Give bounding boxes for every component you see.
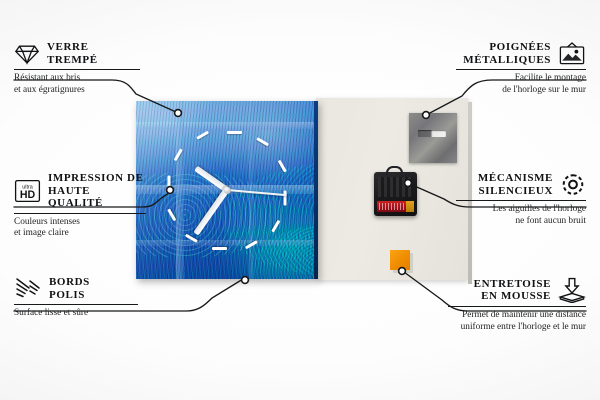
callout-header: POIGNÉES MÉTALLIQUES — [456, 41, 586, 66]
callout-title: POIGNÉES MÉTALLIQUES — [456, 41, 551, 66]
callout-header: ENTRETOISE EN MOUSSE — [448, 277, 586, 303]
callout-bords-polis: BORDS POLIS Surface lisse et sûre — [14, 276, 138, 320]
callout-rule — [456, 200, 586, 201]
infographic-canvas: VERRE TREMPÉ Résistant aux bris et aux é… — [0, 0, 600, 400]
callout-subtitle: Résistant aux bris et aux égratignures — [14, 73, 140, 96]
callout-header: ultra HD IMPRESSION DE HAUTE QUALITÉ — [14, 172, 146, 210]
callout-title: VERRE TREMPÉ — [47, 41, 98, 66]
ultra-hd-icon: ultra HD — [14, 179, 41, 203]
callout-poignees-metalliques: POIGNÉES MÉTALLIQUES Facilite le montage… — [456, 41, 586, 96]
callout-verre-trempe: VERRE TREMPÉ Résistant aux bris et aux é… — [14, 41, 140, 96]
battery — [377, 201, 414, 212]
callout-title: IMPRESSION DE HAUTE QUALITÉ — [48, 172, 146, 210]
quartz-mechanism-box — [374, 172, 417, 216]
callout-subtitle: Les aiguilles de l'horloge ne font aucun… — [456, 204, 586, 227]
callout-header: BORDS POLIS — [14, 276, 138, 301]
mechanism-ridges — [378, 177, 413, 197]
callout-entretoise-en-mousse: ENTRETOISE EN MOUSSE Permet de maintenir… — [448, 277, 586, 333]
hanger-slot — [418, 130, 446, 137]
callout-header: VERRE TREMPÉ — [14, 41, 140, 66]
foam-spacer — [390, 250, 410, 270]
callout-rule — [14, 213, 146, 214]
callout-mecanisme-silencieux: MÉCANISME SILENCIEUX Les aiguilles de l'… — [456, 172, 586, 227]
callout-header: MÉCANISME SILENCIEUX — [456, 172, 586, 197]
callout-subtitle: Surface lisse et sûre — [14, 308, 138, 319]
battery-label — [379, 203, 405, 210]
callout-impression-haute-qualite: ultra HD IMPRESSION DE HAUTE QUALITÉ Cou… — [14, 172, 146, 240]
callout-subtitle: Facilite le montage de l'horloge sur le … — [456, 73, 586, 96]
picture-frame-hanging-icon — [558, 41, 586, 66]
hour-marker — [227, 131, 242, 134]
mechanism-hanging-loop — [386, 166, 403, 175]
polished-edges-icon — [14, 277, 42, 301]
arrow-down-onto-layer-icon — [558, 277, 586, 303]
hour-marker — [168, 175, 171, 190]
hands-center-cap — [224, 187, 231, 194]
glass-edge — [314, 101, 318, 279]
callout-rule — [456, 69, 586, 70]
callout-title: ENTRETOISE EN MOUSSE — [448, 278, 551, 303]
callout-rule — [448, 306, 586, 307]
callout-subtitle: Permet de maintenir une distance uniform… — [448, 310, 586, 333]
hour-marker — [212, 247, 227, 250]
callout-title: BORDS POLIS — [49, 276, 90, 301]
callout-rule — [14, 304, 138, 305]
svg-text:HD: HD — [20, 189, 36, 201]
callout-title: MÉCANISME SILENCIEUX — [456, 172, 553, 197]
clock-front-face — [136, 101, 318, 279]
callout-rule — [14, 69, 140, 70]
metal-hanger-plate — [409, 113, 457, 163]
diamond-icon — [14, 43, 40, 65]
callout-subtitle: Couleurs intenses et image claire — [14, 217, 146, 240]
hour-marker — [284, 190, 287, 205]
gear-icon — [560, 172, 586, 197]
